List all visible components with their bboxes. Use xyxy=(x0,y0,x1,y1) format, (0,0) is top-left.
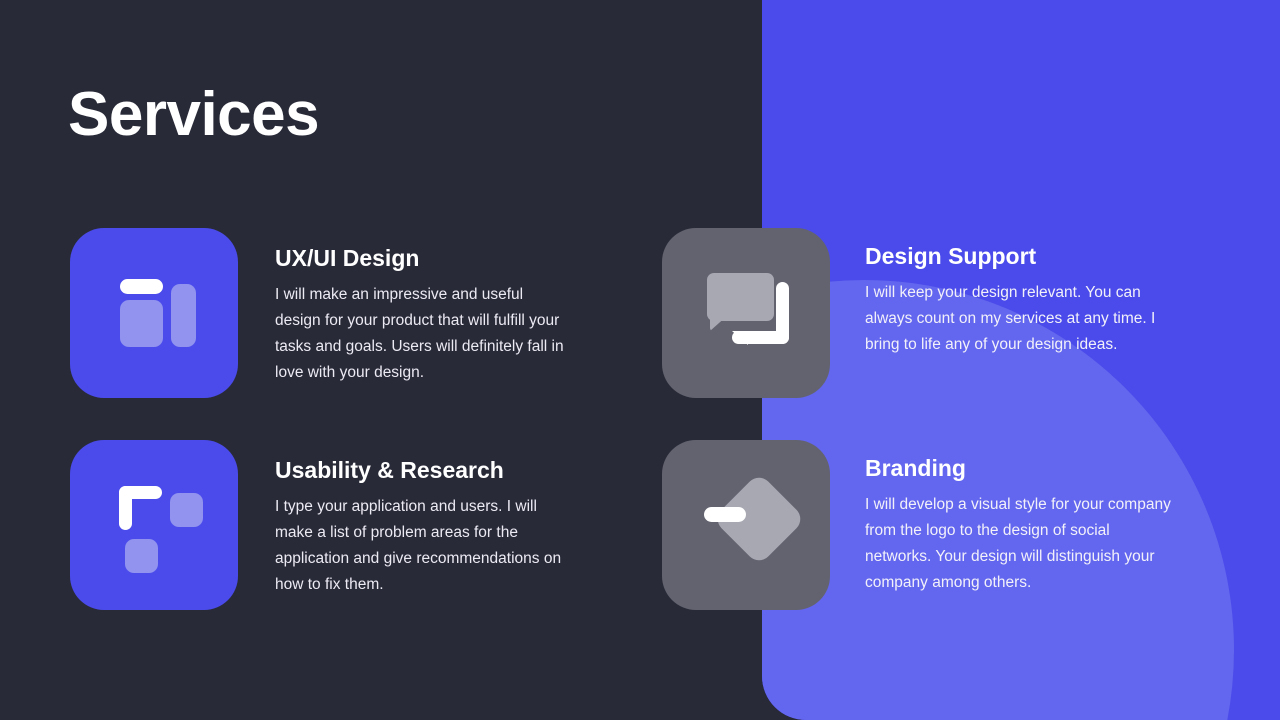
service-icon-tile xyxy=(662,228,830,398)
service-card-body: I will develop a visual style for your c… xyxy=(865,492,1175,596)
service-card-ux-ui-design[interactable]: UX/UI Design I will make an impressive a… xyxy=(70,228,565,398)
service-card-text: Usability & Research I type your applica… xyxy=(275,440,565,598)
chat-bubbles-icon xyxy=(707,273,789,353)
slide-canvas: Services UX/UI Design I will make an imp… xyxy=(0,0,1280,720)
price-tag-icon xyxy=(704,484,794,568)
corner-squares-icon-horizontal-stroke xyxy=(119,486,162,499)
service-card-title: Design Support xyxy=(865,242,1175,270)
service-card-branding[interactable]: Branding I will develop a visual style f… xyxy=(662,440,1175,610)
price-tag-icon-string xyxy=(704,507,746,522)
service-card-body: I will make an impressive and useful des… xyxy=(275,282,565,386)
layout-bars-icon-left-block xyxy=(120,300,163,347)
page-title: Services xyxy=(68,78,319,152)
service-card-usability-research[interactable]: Usability & Research I type your applica… xyxy=(70,440,565,610)
corner-squares-icon xyxy=(119,486,191,560)
layout-bars-icon xyxy=(120,276,190,346)
service-icon-tile xyxy=(70,440,238,610)
service-card-title: Usability & Research xyxy=(275,456,565,484)
service-card-design-support[interactable]: Design Support I will keep your design r… xyxy=(662,228,1175,398)
service-card-text: Branding I will develop a visual style f… xyxy=(865,440,1175,596)
service-card-body: I type your application and users. I wil… xyxy=(275,494,565,598)
service-card-title: Branding xyxy=(865,454,1175,482)
service-card-body: I will keep your design relevant. You ca… xyxy=(865,280,1175,358)
service-icon-tile xyxy=(662,440,830,610)
service-card-title: UX/UI Design xyxy=(275,244,565,272)
corner-squares-icon-bottom-left-square xyxy=(125,539,158,573)
service-icon-tile xyxy=(70,228,238,398)
service-card-text: UX/UI Design I will make an impressive a… xyxy=(275,228,565,386)
corner-squares-icon-top-right-square xyxy=(170,493,203,527)
chat-bubbles-icon-back-tail xyxy=(710,315,728,331)
layout-bars-icon-top-bar xyxy=(120,279,163,294)
layout-bars-icon-right-block xyxy=(171,284,196,347)
service-card-text: Design Support I will keep your design r… xyxy=(865,228,1175,358)
chat-bubbles-icon-back-bubble xyxy=(707,273,774,321)
